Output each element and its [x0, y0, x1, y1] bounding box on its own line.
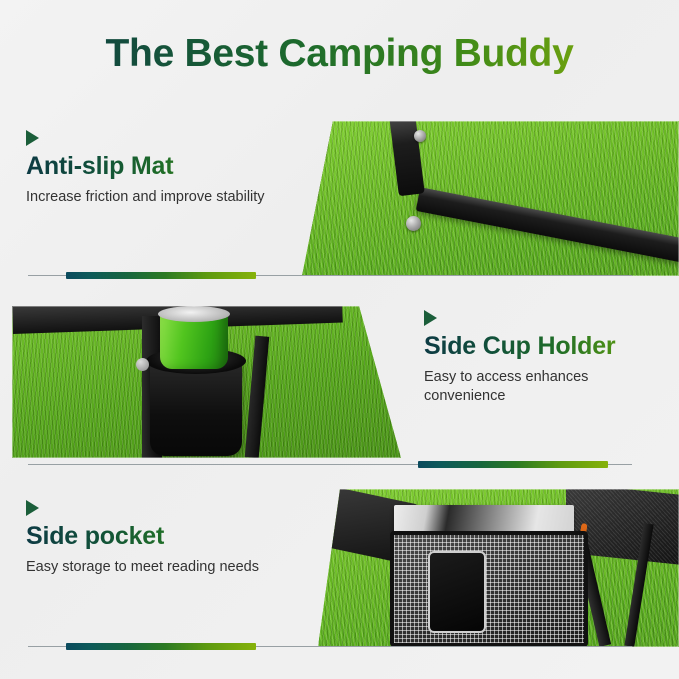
feature-text-anti-slip-mat: Anti-slip Mat Increase friction and impr…: [26, 130, 276, 207]
divider-gradient-bar: [66, 272, 256, 279]
feature-description-side-cup-holder: Easy to access enhances convenience: [424, 368, 664, 406]
feature-image-side-cup-holder: [12, 306, 401, 458]
divider-gradient-bar: [66, 643, 256, 650]
joint-rivet-icon: [414, 130, 426, 142]
feature-image-side-pocket: [318, 489, 679, 647]
grass-background: [298, 121, 679, 276]
feature-text-side-pocket: Side pocket Easy storage to meet reading…: [26, 500, 276, 577]
product-feature-infographic: The Best Camping Buddy Anti-slip Mat Inc…: [0, 0, 679, 679]
foot-rivet-icon: [406, 216, 421, 231]
triangle-right-icon: [26, 500, 39, 516]
feature-heading-side-cup-holder: Side Cup Holder: [424, 333, 664, 361]
mesh-side-pocket: [390, 531, 588, 647]
feature-text-side-cup-holder: Side Cup Holder Easy to access enhances …: [424, 310, 664, 406]
feature-description-anti-slip-mat: Increase friction and improve stability: [26, 188, 276, 207]
smartphone: [428, 551, 486, 633]
feature-heading-anti-slip-mat: Anti-slip Mat: [26, 153, 276, 181]
divider-1: [28, 272, 632, 280]
page-title: The Best Camping Buddy: [0, 32, 679, 76]
triangle-right-icon: [424, 310, 437, 326]
soda-can-lid: [158, 306, 230, 322]
holder-clip-icon: [136, 358, 149, 371]
divider-gradient-bar: [418, 461, 608, 468]
feature-description-side-pocket: Easy storage to meet reading needs: [26, 558, 276, 577]
divider-2: [28, 461, 632, 469]
feature-heading-side-pocket: Side pocket: [26, 523, 276, 551]
triangle-right-icon: [26, 130, 39, 146]
divider-3: [28, 643, 632, 651]
feature-image-anti-slip-mat: [298, 121, 679, 276]
